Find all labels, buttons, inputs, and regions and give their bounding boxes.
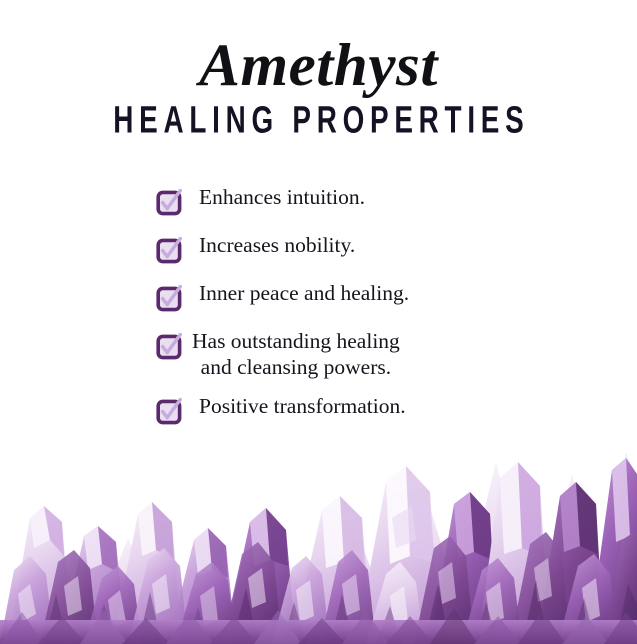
checked-checkbox-icon: [156, 398, 182, 424]
page-title: Amethyst: [0, 34, 637, 96]
amethyst-crystal-cluster-photo: [0, 444, 637, 644]
list-item-label: Positive transformation.: [199, 393, 406, 419]
healing-properties-list: Enhances intuition. Increases nobility. …: [156, 184, 586, 424]
page-subtitle: HEALING PROPERTIES: [57, 100, 579, 140]
list-item-label: Has outstanding healing and cleansing po…: [192, 328, 400, 380]
amethyst-healing-properties-poster: Amethyst HEALING PROPERTIES Enhances int…: [0, 0, 637, 644]
checked-checkbox-icon: [156, 333, 182, 359]
list-item-label: Inner peace and healing.: [199, 280, 409, 306]
checked-checkbox-icon: [156, 237, 182, 263]
poster-header: Amethyst HEALING PROPERTIES: [0, 34, 637, 138]
checked-checkbox-icon: [156, 189, 182, 215]
list-item: Enhances intuition.: [156, 184, 586, 215]
list-item-label: Enhances intuition.: [199, 184, 365, 210]
list-item: Increases nobility.: [156, 232, 586, 263]
list-item: Inner peace and healing.: [156, 280, 586, 311]
list-item-label: Increases nobility.: [199, 232, 355, 258]
checked-checkbox-icon: [156, 285, 182, 311]
list-item: Positive transformation.: [156, 393, 586, 424]
list-item: Has outstanding healing and cleansing po…: [156, 328, 586, 380]
